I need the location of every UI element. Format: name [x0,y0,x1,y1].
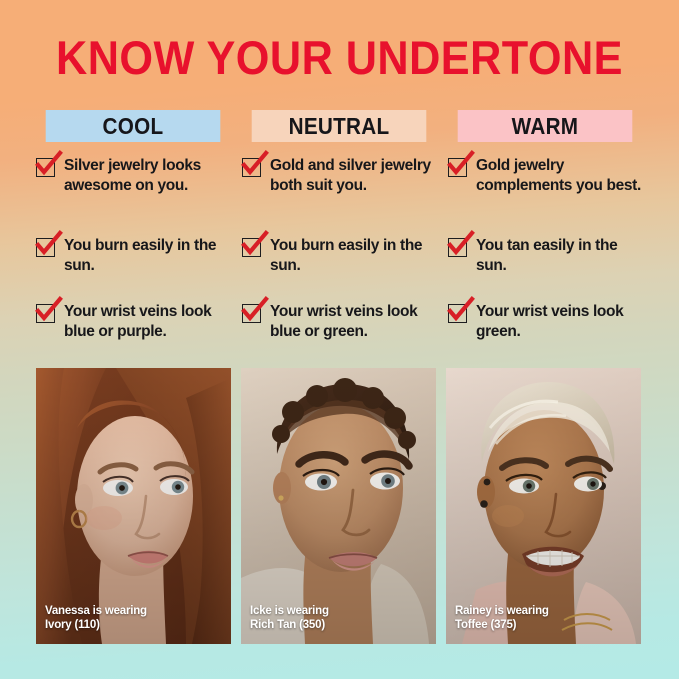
checklist-item[interactable]: You burn easily in the sun. [242,236,436,284]
column-header-cool: COOL [46,110,221,142]
model-photo-icke[interactable]: Icke is wearing Rich Tan (350) [241,368,436,644]
checklist-item-label: You burn easily in the sun. [270,236,436,275]
portrait-illustration-vanessa [36,368,231,644]
undertone-infographic: KNOW YOUR UNDERTONE COOL Silver jewelry … [0,0,679,679]
checklist-item-label: Gold jewelry complements you best. [476,156,642,195]
checklist-item-label: Silver jewelry looks awesome on you. [64,156,230,195]
checkbox-checked-icon[interactable] [448,158,467,177]
checklist-item[interactable]: Gold and silver jewelry both suit you. [242,156,436,218]
page-title: KNOW YOUR UNDERTONE [27,32,652,84]
model-photo-rainey[interactable]: Rainey is wearing Toffee (375) [446,368,641,644]
model-photo-row: Vanessa is wearing Ivory (110) [36,368,643,644]
column-cool: COOL Silver jewelry looks awesome on you… [36,110,230,346]
caption-line-1: Vanessa is wearing [45,605,147,619]
checkbox-checked-icon[interactable] [448,304,467,323]
checklist-item-label: Gold and silver jewelry both suit you. [270,156,436,195]
caption-line-1: Icke is wearing [250,605,329,619]
model-photo-vanessa[interactable]: Vanessa is wearing Ivory (110) [36,368,231,644]
checklist-item[interactable]: Your wrist veins look blue or green. [242,302,436,346]
checkbox-checked-icon[interactable] [242,238,261,257]
checklist-cool: Silver jewelry looks awesome on you. You… [36,156,230,346]
checkbox-checked-icon[interactable] [242,158,261,177]
checkbox-checked-icon[interactable] [36,304,55,323]
checklist-warm: Gold jewelry complements you best. You t… [448,156,642,346]
checklist-item[interactable]: Gold jewelry complements you best. [448,156,642,218]
checkbox-checked-icon[interactable] [242,304,261,323]
checkbox-checked-icon[interactable] [36,238,55,257]
portrait-illustration-icke [241,368,436,644]
caption-line-1: Rainey is wearing [455,605,549,619]
checklist-item[interactable]: Your wrist veins look green. [448,302,642,346]
checklist-item-label: Your wrist veins look blue or green. [270,302,436,341]
column-header-warm: WARM [458,110,633,142]
checkbox-checked-icon[interactable] [36,158,55,177]
caption-line-2: Rich Tan (350) [250,619,329,633]
checklist-item-label: You tan easily in the sun. [476,236,642,275]
checklist-neutral: Gold and silver jewelry both suit you. Y… [242,156,436,346]
checklist-item[interactable]: You burn easily in the sun. [36,236,230,284]
checklist-item-label: You burn easily in the sun. [64,236,230,275]
photo-caption-vanessa: Vanessa is wearing Ivory (110) [45,605,147,632]
checklist-item[interactable]: Silver jewelry looks awesome on you. [36,156,230,218]
photo-caption-icke: Icke is wearing Rich Tan (350) [250,605,329,632]
checklist-item-label: Your wrist veins look green. [476,302,642,341]
checklist-item[interactable]: Your wrist veins look blue or purple. [36,302,230,346]
column-header-neutral: NEUTRAL [252,110,427,142]
caption-line-2: Toffee (375) [455,619,549,633]
undertone-columns: COOL Silver jewelry looks awesome on you… [36,110,643,346]
caption-line-2: Ivory (110) [45,619,147,633]
photo-caption-rainey: Rainey is wearing Toffee (375) [455,605,549,632]
portrait-illustration-rainey [446,368,641,644]
checklist-item[interactable]: You tan easily in the sun. [448,236,642,284]
column-warm: WARM Gold jewelry complements you best. … [448,110,642,346]
checkbox-checked-icon[interactable] [448,238,467,257]
column-neutral: NEUTRAL Gold and silver jewelry both sui… [242,110,436,346]
checklist-item-label: Your wrist veins look blue or purple. [64,302,230,341]
